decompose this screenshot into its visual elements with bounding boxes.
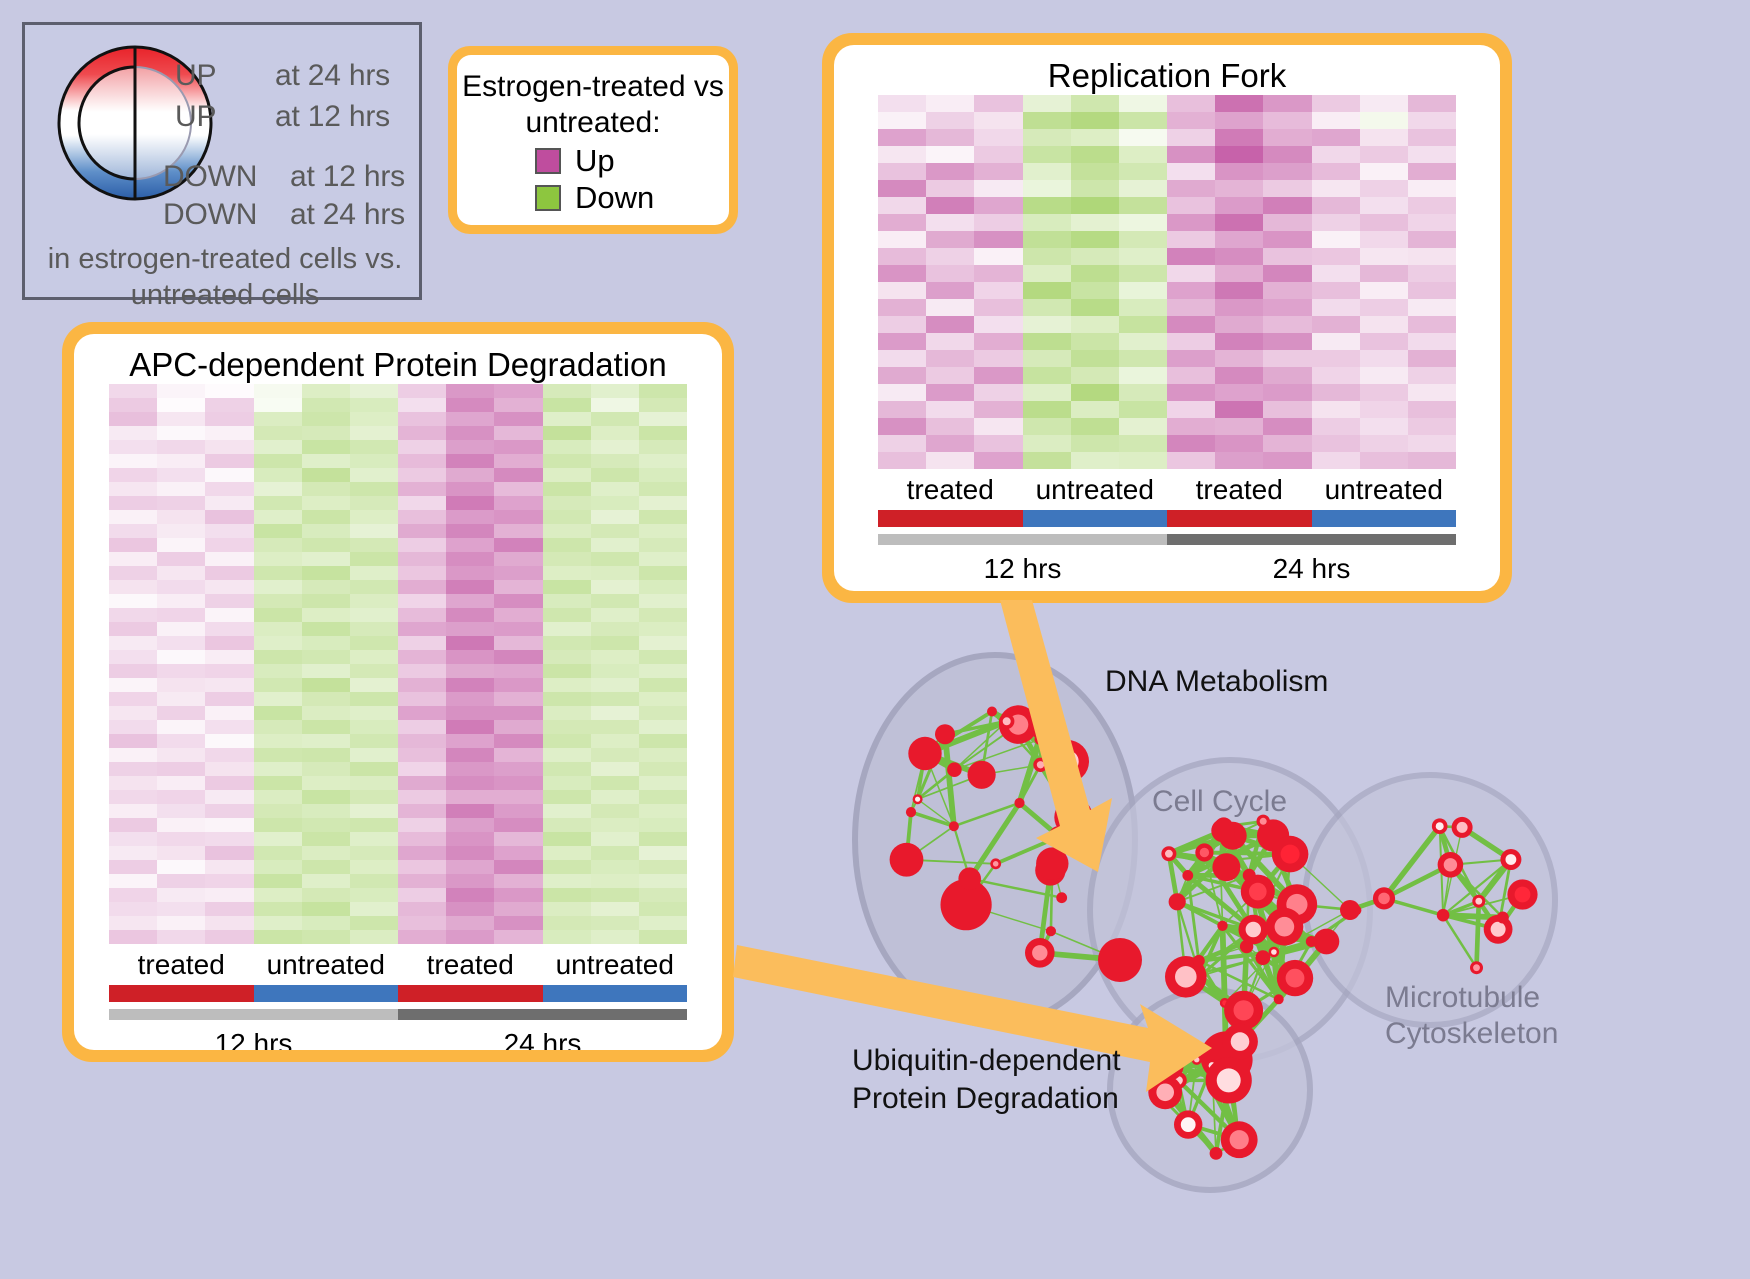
heatmap-cell — [926, 214, 974, 231]
heatmap-cell — [1215, 401, 1263, 418]
heatmap-cell — [1167, 350, 1215, 367]
network-node-core — [1168, 1044, 1174, 1050]
heatmap-cell — [591, 692, 639, 706]
heatmap-cell — [157, 468, 205, 482]
heatmap-cell — [926, 299, 974, 316]
heatmap-cell — [446, 664, 494, 678]
heatmap-cell — [1360, 163, 1408, 180]
heatmap-cell — [350, 496, 398, 510]
heatmap-cell — [1360, 180, 1408, 197]
heatmap-cell — [494, 692, 542, 706]
heatmap-cell — [543, 762, 591, 776]
heatmap-cell — [878, 112, 926, 129]
heatmap-cell — [974, 197, 1022, 214]
heatmap-cell — [205, 762, 253, 776]
heatmap-cell — [157, 510, 205, 524]
heatmap-cell — [591, 454, 639, 468]
heatmap-cell — [494, 818, 542, 832]
heatmap-cell — [639, 888, 687, 902]
heatmap-cell — [254, 426, 302, 440]
heatmap-cell — [878, 418, 926, 435]
heatmap-cell — [639, 818, 687, 832]
heatmap-cell — [974, 418, 1022, 435]
group-label: untreated — [1312, 469, 1457, 506]
network-node[interactable] — [1217, 921, 1227, 931]
network-node[interactable] — [1098, 938, 1142, 982]
heatmap-cell — [254, 664, 302, 678]
heatmap-cell — [543, 678, 591, 692]
heatmap-cell — [1167, 316, 1215, 333]
heatmap-cell — [398, 426, 446, 440]
heatmap-cell — [398, 650, 446, 664]
heatmap-cell — [398, 566, 446, 580]
group-label: untreated — [1023, 469, 1168, 506]
heatmap-cell — [1263, 350, 1311, 367]
time-label: 12 hrs — [109, 1020, 398, 1050]
heatmap-cell — [109, 412, 157, 426]
heatmap-cell — [591, 622, 639, 636]
heatmap-cell — [1263, 299, 1311, 316]
heatmap-cell — [543, 524, 591, 538]
heatmap-cell — [494, 538, 542, 552]
heatmap-cell — [639, 454, 687, 468]
heatmap-cell — [205, 482, 253, 496]
heatmap-cell — [1215, 231, 1263, 248]
heatmap-cell — [639, 776, 687, 790]
heatmap-cell — [109, 818, 157, 832]
heatmap-cell — [157, 636, 205, 650]
heatmap-cell — [205, 706, 253, 720]
heatmap-cell — [1167, 248, 1215, 265]
heatmap-cell — [302, 720, 350, 734]
heatmap-cell — [398, 846, 446, 860]
heatmap-cell — [109, 776, 157, 790]
heatmap-cell — [254, 608, 302, 622]
heatmap-cell — [350, 524, 398, 538]
heatmap-cell — [974, 333, 1022, 350]
heatmap-cell — [591, 426, 639, 440]
heatmap-cell — [1360, 299, 1408, 316]
heatmap-cell — [302, 398, 350, 412]
network-node[interactable] — [987, 707, 997, 717]
network-node[interactable] — [1036, 847, 1068, 879]
heatmap-cell — [1071, 384, 1119, 401]
heatmap-cell — [350, 636, 398, 650]
network-edge — [1477, 901, 1479, 968]
heatmap-cell — [109, 650, 157, 664]
heatmap-cell — [205, 440, 253, 454]
heatmap-cell — [494, 874, 542, 888]
heatmap-cell — [1408, 316, 1456, 333]
heatmap-cell — [1167, 146, 1215, 163]
heatmap-cell — [446, 594, 494, 608]
heatmap-cell — [205, 650, 253, 664]
heatmap-cell — [591, 552, 639, 566]
heatmap-cell — [1263, 146, 1311, 163]
replication-fork-title: Replication Fork — [834, 45, 1500, 95]
heatmap-cell — [157, 776, 205, 790]
condition-bar-segment — [1167, 510, 1312, 527]
network-node[interactable] — [890, 843, 924, 877]
heatmap-cell — [639, 622, 687, 636]
heatmap-cell — [446, 888, 494, 902]
heatmap-cell — [1167, 163, 1215, 180]
heatmap-cell — [205, 832, 253, 846]
network-node-core — [1231, 1032, 1250, 1051]
network-node[interactable] — [947, 762, 962, 777]
heatmap-cell — [109, 538, 157, 552]
heatmap-cell — [1408, 95, 1456, 112]
heatmap-cell — [1023, 350, 1071, 367]
network-node-core — [1249, 883, 1267, 901]
heatmap-cell — [639, 664, 687, 678]
heatmap-cell — [302, 384, 350, 398]
heatmap-cell — [398, 454, 446, 468]
heatmap-cell — [1119, 367, 1167, 384]
heatmap-cell — [157, 818, 205, 832]
heatmap-cell — [1167, 112, 1215, 129]
heatmap-cell — [157, 440, 205, 454]
heatmap-cell — [1312, 146, 1360, 163]
heatmap-cell — [157, 496, 205, 510]
heatmap-cell — [1167, 129, 1215, 146]
heatmap-cell — [350, 930, 398, 944]
heatmap-cell — [350, 818, 398, 832]
group-label: treated — [878, 469, 1023, 506]
heatmap-cell — [1119, 384, 1167, 401]
scale-label-down-24: DOWN — [163, 198, 257, 232]
network-node[interactable] — [1256, 950, 1271, 965]
heatmap-cell — [1215, 282, 1263, 299]
heatmap-cell — [302, 664, 350, 678]
heatmap-cell — [1167, 282, 1215, 299]
condition-bar-segment — [109, 985, 254, 1002]
replication-fork-time-bar — [878, 534, 1456, 545]
heatmap-cell — [926, 95, 974, 112]
heatmap-cell — [494, 636, 542, 650]
network-node-core — [1181, 1117, 1196, 1132]
network-node-core — [1161, 1058, 1177, 1074]
heatmap-cell — [302, 454, 350, 468]
network-node-core — [1436, 822, 1444, 830]
network-node[interactable] — [1056, 892, 1067, 903]
network-node[interactable] — [949, 821, 959, 831]
network-node[interactable] — [1210, 1147, 1223, 1160]
heatmap-cell — [543, 790, 591, 804]
heatmap-cell — [398, 440, 446, 454]
network-node[interactable] — [1497, 912, 1509, 924]
network-node-core — [1475, 898, 1482, 905]
heatmap-cell — [157, 454, 205, 468]
network-node[interactable] — [1243, 869, 1256, 882]
heatmap-cell — [1408, 248, 1456, 265]
heatmap-cell — [639, 650, 687, 664]
heatmap-cell — [639, 552, 687, 566]
network-node[interactable] — [1211, 819, 1235, 843]
heatmap-cell — [109, 748, 157, 762]
heatmap-cell — [350, 874, 398, 888]
heatmap-cell — [205, 930, 253, 944]
heatmap-cell — [1408, 197, 1456, 214]
heatmap-cell — [591, 874, 639, 888]
heatmap-cell — [591, 510, 639, 524]
heatmap-cell — [302, 790, 350, 804]
heatmap-cell — [350, 552, 398, 566]
heatmap-cell — [205, 804, 253, 818]
heatmap-cell — [157, 888, 205, 902]
heatmap-cell — [1360, 367, 1408, 384]
replication-fork-heatmap — [878, 95, 1456, 469]
heatmap-cell — [302, 650, 350, 664]
heatmap-cell — [1312, 401, 1360, 418]
heatmap-cell — [1408, 350, 1456, 367]
heatmap-cell — [350, 762, 398, 776]
heatmap-cell — [157, 804, 205, 818]
heatmap-cell — [205, 384, 253, 398]
heatmap-cell — [398, 860, 446, 874]
heatmap-cell — [494, 930, 542, 944]
heatmap-cell — [1312, 333, 1360, 350]
heatmap-cell — [350, 454, 398, 468]
heatmap-cell — [878, 129, 926, 146]
network-node[interactable] — [1182, 870, 1193, 881]
heatmap-cell — [1023, 384, 1071, 401]
heatmap-cell — [254, 538, 302, 552]
network-node[interactable] — [1169, 893, 1186, 910]
heatmap-cell — [205, 902, 253, 916]
network-node[interactable] — [906, 807, 916, 817]
heatmap-cell — [591, 776, 639, 790]
heatmap-cell — [1071, 265, 1119, 282]
heatmap-cell — [157, 552, 205, 566]
heatmap-cell — [639, 678, 687, 692]
heatmap-cell — [205, 510, 253, 524]
heatmap-cell — [446, 552, 494, 566]
heatmap-cell — [591, 566, 639, 580]
heatmap-cell — [254, 832, 302, 846]
heatmap-cell — [205, 496, 253, 510]
heatmap-cell — [254, 510, 302, 524]
heatmap-cell — [1263, 95, 1311, 112]
time-bar-segment — [878, 534, 1167, 545]
heatmap-cell — [494, 734, 542, 748]
heatmap-cell — [350, 678, 398, 692]
heatmap-cell — [1167, 231, 1215, 248]
network-node[interactable] — [1193, 955, 1205, 967]
heatmap-cell — [1408, 282, 1456, 299]
heatmap-cell — [446, 580, 494, 594]
heatmap-cell — [254, 468, 302, 482]
network-node[interactable] — [968, 761, 996, 789]
heatmap-cell — [1312, 452, 1360, 469]
heatmap-cell — [1071, 333, 1119, 350]
heatmap-cell — [1023, 299, 1071, 316]
heatmap-cell — [1215, 367, 1263, 384]
heatmap-cell — [494, 762, 542, 776]
heatmap-cell — [639, 482, 687, 496]
heatmap-cell — [109, 496, 157, 510]
network-node[interactable] — [1046, 926, 1056, 936]
network-node[interactable] — [1437, 909, 1450, 922]
network-node[interactable] — [1014, 798, 1024, 808]
network-node-core — [1281, 845, 1300, 864]
heatmap-cell — [446, 510, 494, 524]
heatmap-cell — [1023, 180, 1071, 197]
heatmap-cell — [878, 384, 926, 401]
heatmap-cell — [254, 622, 302, 636]
network-node[interactable] — [1340, 900, 1360, 920]
heatmap-cell — [157, 580, 205, 594]
heatmap-cell — [446, 762, 494, 776]
heatmap-cell — [254, 902, 302, 916]
heatmap-cell — [1119, 452, 1167, 469]
heatmap-cell — [494, 832, 542, 846]
heatmap-cell — [494, 664, 542, 678]
heatmap-cell — [398, 734, 446, 748]
heatmap-cell — [109, 566, 157, 580]
heatmap-cell — [1023, 418, 1071, 435]
heatmap-cell — [1360, 214, 1408, 231]
heatmap-cell — [1312, 265, 1360, 282]
heatmap-cell — [350, 748, 398, 762]
condition-bar-segment — [398, 985, 543, 1002]
heatmap-cell — [1215, 112, 1263, 129]
heatmap-cell — [157, 622, 205, 636]
network-node[interactable] — [1306, 936, 1317, 947]
heatmap-cell — [974, 265, 1022, 282]
heatmap-cell — [878, 146, 926, 163]
heatmap-cell — [494, 510, 542, 524]
heatmap-cell — [398, 888, 446, 902]
heatmap-cell — [591, 468, 639, 482]
updown-legend-card: Estrogen-treated vs untreated: Up Down — [448, 46, 738, 234]
apc-title: APC-dependent Protein Degradation — [74, 334, 722, 384]
heatmap-cell — [1119, 265, 1167, 282]
network-node[interactable] — [958, 867, 981, 890]
scale-label-up-12: UP — [175, 100, 216, 134]
group-label: treated — [1167, 469, 1312, 506]
network-node[interactable] — [1274, 994, 1284, 1004]
heatmap-cell — [1119, 435, 1167, 452]
heatmap-cell — [1215, 418, 1263, 435]
network-node-core — [1491, 922, 1506, 937]
heatmap-cell — [302, 902, 350, 916]
network-node[interactable] — [1212, 853, 1240, 881]
heatmap-cell — [205, 846, 253, 860]
heatmap-cell — [109, 608, 157, 622]
heatmap-cell — [205, 538, 253, 552]
heatmap-cell — [926, 163, 974, 180]
heatmap-cell — [543, 664, 591, 678]
heatmap-cell — [926, 231, 974, 248]
heatmap-cell — [157, 566, 205, 580]
heatmap-cell — [350, 538, 398, 552]
heatmap-cell — [639, 426, 687, 440]
heatmap-cell — [591, 762, 639, 776]
heatmap-cell — [878, 248, 926, 265]
heatmap-cell — [1119, 112, 1167, 129]
network-node[interactable] — [1314, 929, 1340, 955]
heatmap-cell — [350, 384, 398, 398]
heatmap-cell — [109, 790, 157, 804]
heatmap-cell — [398, 664, 446, 678]
heatmap-cell — [350, 720, 398, 734]
network-node[interactable] — [1049, 826, 1070, 847]
heatmap-cell — [591, 482, 639, 496]
heatmap-cell — [398, 678, 446, 692]
heatmap-cell — [1360, 265, 1408, 282]
heatmap-cell — [878, 333, 926, 350]
heatmap-cell — [1263, 401, 1311, 418]
heatmap-cell — [109, 692, 157, 706]
heatmap-cell — [1215, 350, 1263, 367]
heatmap-cell — [398, 594, 446, 608]
heatmap-cell — [1408, 333, 1456, 350]
heatmap-cell — [1408, 384, 1456, 401]
heatmap-cell — [398, 874, 446, 888]
heatmap-cell — [254, 916, 302, 930]
heatmap-cell — [398, 776, 446, 790]
replication-fork-time-labels: 12 hrs24 hrs — [878, 545, 1456, 585]
heatmap-cell — [254, 692, 302, 706]
group-label: treated — [109, 944, 254, 981]
network-node-core — [1194, 1057, 1199, 1062]
condition-bar-segment — [878, 510, 1023, 527]
heatmap-cell — [639, 734, 687, 748]
heatmap-cell — [1360, 384, 1408, 401]
heatmap-cell — [878, 265, 926, 282]
heatmap-cell — [543, 622, 591, 636]
heatmap-cell — [1312, 418, 1360, 435]
time-bar-segment — [109, 1009, 398, 1020]
heatmap-cell — [350, 440, 398, 454]
heatmap-cell — [109, 510, 157, 524]
heatmap-cell — [639, 832, 687, 846]
heatmap-cell — [543, 930, 591, 944]
heatmap-cell — [1023, 452, 1071, 469]
heatmap-cell — [446, 790, 494, 804]
label-microtubule-cytoskeleton: Microtubule Cytoskeleton — [1385, 980, 1558, 1052]
heatmap-cell — [157, 874, 205, 888]
heatmap-cell — [446, 468, 494, 482]
heatmap-cell — [591, 930, 639, 944]
heatmap-cell — [591, 860, 639, 874]
heatmap-cell — [446, 748, 494, 762]
updown-legend-title: Estrogen-treated vs untreated: — [457, 69, 729, 141]
network-edge — [1223, 926, 1225, 1003]
heatmap-cell — [494, 496, 542, 510]
heatmap-cell — [254, 748, 302, 762]
heatmap-cell — [350, 916, 398, 930]
heatmap-cell — [974, 367, 1022, 384]
heatmap-cell — [1071, 248, 1119, 265]
heatmap-cell — [1023, 316, 1071, 333]
heatmap-cell — [1023, 95, 1071, 112]
heatmap-cell — [254, 888, 302, 902]
heatmap-cell — [1215, 265, 1263, 282]
network-node[interactable] — [935, 724, 955, 744]
heatmap-cell — [1167, 95, 1215, 112]
heatmap-cell — [1312, 384, 1360, 401]
heatmap-cell — [109, 594, 157, 608]
heatmap-cell — [109, 440, 157, 454]
network-node[interactable] — [1035, 734, 1046, 745]
heatmap-cell — [591, 664, 639, 678]
network-node[interactable] — [908, 737, 941, 770]
heatmap-cell — [350, 692, 398, 706]
heatmap-cell — [1408, 418, 1456, 435]
heatmap-cell — [254, 720, 302, 734]
